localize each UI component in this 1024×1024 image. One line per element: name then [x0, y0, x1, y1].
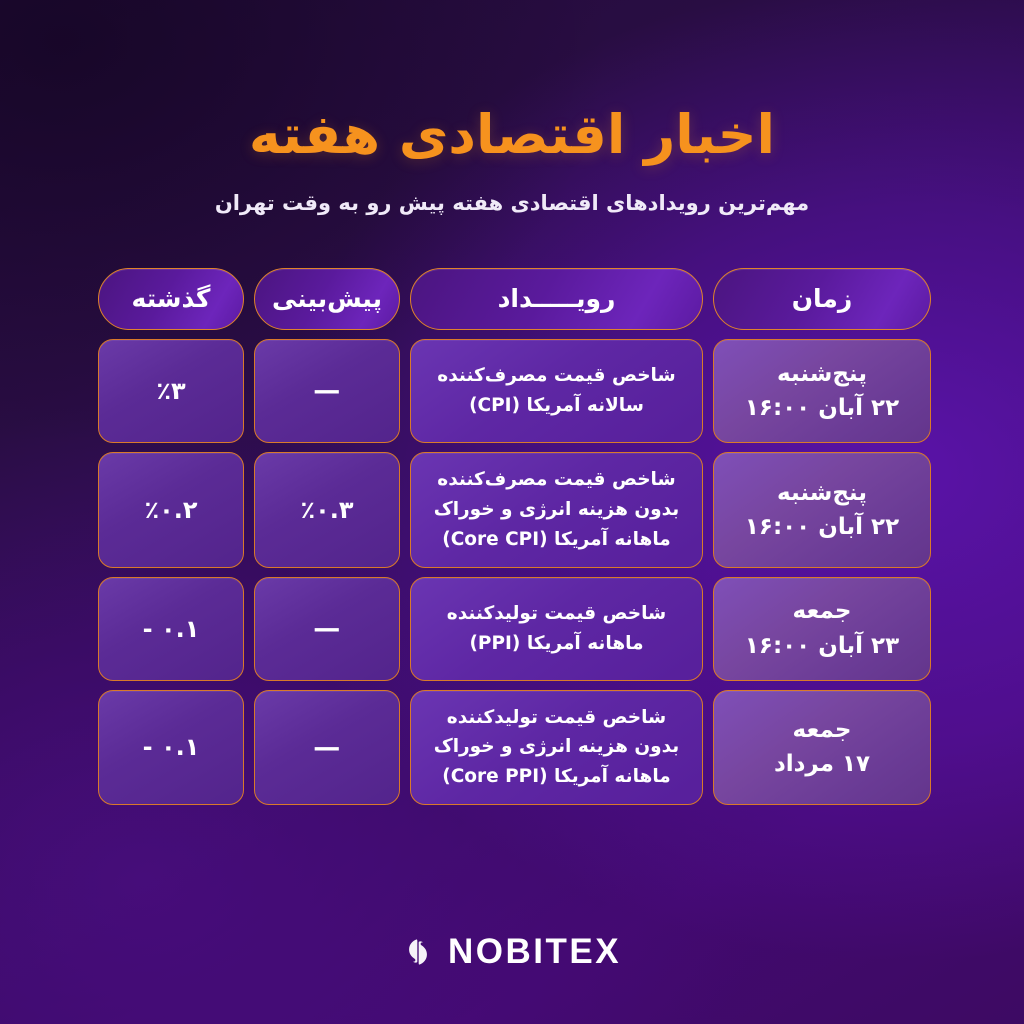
cell-forecast-text: — — [313, 613, 341, 644]
cell-event: شاخص قیمت تولیدکنندهبدون هزینه انرژی و خ… — [410, 690, 703, 806]
table-row: پنج‌شنبه۲۲ آبان ۱۶:۰۰ شاخص قیمت مصرف‌کنن… — [93, 339, 931, 443]
brand-name: NOBITEX — [448, 932, 621, 972]
cell-previous: ۰.۱ - — [98, 690, 244, 806]
table-row: جمعه۲۳ آبان ۱۶:۰۰ شاخص قیمت تولیدکنندهما… — [93, 577, 931, 681]
cell-previous: ۰.۱ - — [98, 577, 244, 681]
cell-forecast-text: — — [313, 375, 341, 406]
column-header-time-label: زمان — [792, 284, 853, 313]
cell-time-text: جمعه۱۷ مرداد — [774, 713, 870, 781]
cell-forecast: ٪۰.۳ — [254, 452, 400, 568]
cell-event-text: شاخص قیمت مصرف‌کنندهسالانه آمریکا (CPI) — [437, 361, 675, 421]
column-header-forecast-label: پیش‌بینی — [272, 284, 382, 313]
table-row: پنج‌شنبه۲۲ آبان ۱۶:۰۰ شاخص قیمت مصرف‌کنن… — [93, 452, 931, 568]
column-header-forecast: پیش‌بینی — [254, 268, 400, 330]
poster-header: اخبار اقتصادی هفته مهم‌ترین رویدادهای اق… — [0, 104, 1024, 220]
table-header-row: زمان رویـــــداد پیش‌بینی گذشته — [93, 268, 931, 330]
cell-event: شاخص قیمت تولیدکنندهماهانه آمریکا (PPI) — [410, 577, 703, 681]
cell-forecast-text: ٪۰.۳ — [300, 496, 353, 524]
cell-forecast: — — [254, 339, 400, 443]
nobitex-crescent-logo-icon — [403, 937, 433, 967]
cell-previous-text: ۰.۱ - — [143, 615, 200, 643]
cell-previous: ٪۰.۲ — [98, 452, 244, 568]
poster-canvas: اخبار اقتصادی هفته مهم‌ترین رویدادهای اق… — [0, 0, 1024, 1024]
cell-event-text: شاخص قیمت تولیدکنندهبدون هزینه انرژی و خ… — [434, 703, 680, 793]
cell-event: شاخص قیمت مصرف‌کنندهسالانه آمریکا (CPI) — [410, 339, 703, 443]
page-title: اخبار اقتصادی هفته — [0, 104, 1024, 166]
footer-branding: NOBITEX — [403, 932, 621, 972]
cell-time-text: پنج‌شنبه۲۲ آبان ۱۶:۰۰ — [745, 357, 899, 425]
cell-forecast: — — [254, 690, 400, 806]
economic-calendar-table: زمان رویـــــداد پیش‌بینی گذشته پنج‌شنبه… — [93, 268, 931, 806]
cell-time: پنج‌شنبه۲۲ آبان ۱۶:۰۰ — [713, 339, 931, 443]
cell-event: شاخص قیمت مصرف‌کنندهبدون هزینه انرژی و خ… — [410, 452, 703, 568]
cell-previous-text: ٪۰.۲ — [144, 496, 197, 524]
cell-previous-text: ۰.۱ - — [143, 733, 200, 761]
cell-previous: ٪۳ — [98, 339, 244, 443]
column-header-event: رویـــــداد — [410, 268, 703, 330]
cell-forecast: — — [254, 577, 400, 681]
cell-previous-text: ٪۳ — [156, 377, 185, 405]
cell-forecast-text: — — [313, 732, 341, 763]
column-header-previous-label: گذشته — [132, 284, 211, 313]
cell-time: پنج‌شنبه۲۲ آبان ۱۶:۰۰ — [713, 452, 931, 568]
column-header-time: زمان — [713, 268, 931, 330]
cell-time-text: جمعه۲۳ آبان ۱۶:۰۰ — [745, 594, 899, 662]
column-header-event-label: رویـــــداد — [498, 284, 616, 313]
cell-time-text: پنج‌شنبه۲۲ آبان ۱۶:۰۰ — [745, 476, 899, 544]
cell-time: جمعه۲۳ آبان ۱۶:۰۰ — [713, 577, 931, 681]
table-row: جمعه۱۷ مرداد شاخص قیمت تولیدکنندهبدون هز… — [93, 690, 931, 806]
cell-event-text: شاخص قیمت مصرف‌کنندهبدون هزینه انرژی و خ… — [434, 465, 680, 555]
page-subtitle: مهم‌ترین رویدادهای اقتصادی هفته پیش رو ب… — [0, 188, 1024, 220]
column-header-previous: گذشته — [98, 268, 244, 330]
cell-time: جمعه۱۷ مرداد — [713, 690, 931, 806]
cell-event-text: شاخص قیمت تولیدکنندهماهانه آمریکا (PPI) — [447, 599, 666, 659]
